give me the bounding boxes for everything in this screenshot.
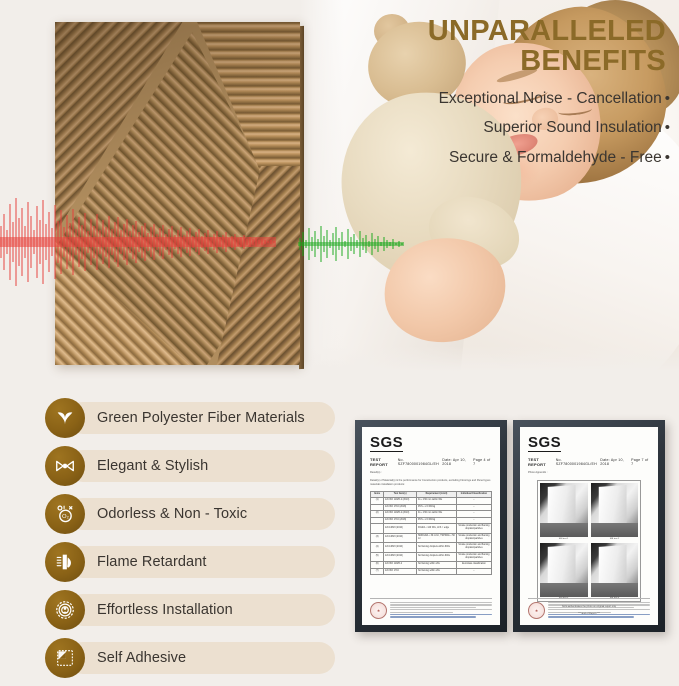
- table-cell: (5): [371, 552, 384, 562]
- feature-label: Self Adhesive: [97, 650, 186, 666]
- svg-text:O₂: O₂: [62, 514, 69, 520]
- feature-label: Odorless & Non - Toxic: [97, 506, 247, 522]
- feature-item-elegant-stylish[interactable]: Elegant & Stylish: [45, 446, 335, 486]
- report-date: Date: Apr 10, 2018: [442, 458, 473, 466]
- certificate-meta: TEST REPORT No. SZF7800001984GL/EH Date:…: [370, 457, 492, 467]
- table-cell: No flaming within 20s: [416, 568, 456, 574]
- bow-tie-icon: [45, 446, 85, 486]
- feature-label: Elegant & Stylish: [97, 458, 208, 474]
- certificate-note: Detail(s) of Material(s) & the performan…: [370, 479, 492, 487]
- report-number: No. SZF7800001984GL/EH: [556, 458, 601, 466]
- certificate-page: SGS TEST REPORT No. SZF7800001984GL/EH D…: [362, 427, 500, 625]
- table-row: (7)EN ISO 1716No flaming within 20s–: [371, 568, 492, 574]
- table-cell: No flaming droplets within 600s: [416, 543, 456, 553]
- table-cell: Smoke production and flaming droplets/pa…: [456, 552, 491, 562]
- feature-label: Effortless Installation: [97, 602, 233, 618]
- page-title: UNPARALLELED BENEFITS: [300, 16, 672, 77]
- certificate-footer: ★: [370, 598, 492, 619]
- benefit-text-2: Superior Sound Insulation: [483, 119, 661, 136]
- benefit-bullet-2: •: [662, 119, 670, 136]
- sgs-certificate-photos[interactable]: SGS TEST REPORT No. SZF7800001984GL/EH D…: [513, 420, 665, 632]
- panel-face: [55, 22, 300, 365]
- test-photo-cell: SBI test 1: [540, 483, 588, 540]
- footer-fine-print: [548, 602, 650, 619]
- table-cell: EN 13823 (2010): [384, 524, 417, 534]
- photo-bottom-fade: [300, 346, 679, 372]
- lower-section: Green Polyester Fiber Materials Elegant …: [0, 380, 679, 679]
- test-photo-grid: SBI test 1 SBI test 2 SBI test 3 SB: [537, 480, 642, 603]
- table-cell: –: [456, 568, 491, 574]
- table-cell: FIGRA ≤ 120 W/s, LFS < edge: [416, 524, 456, 534]
- feature-label: Green Polyester Fiber Materials: [97, 410, 305, 426]
- table-row: EN 13823 (2010)FIGRA ≤ 120 W/s, LFS < ed…: [371, 524, 492, 534]
- feature-item-self-adhesive[interactable]: Self Adhesive: [45, 638, 335, 678]
- sbi-test-photo: [540, 483, 588, 537]
- table-cell: [371, 524, 384, 534]
- footer-fine-print: [390, 602, 492, 619]
- benefit-text-1: Exceptional Noise - Cancellation: [439, 90, 662, 107]
- test-results-table: Items Test Item(s) Requirement (Limit) I…: [370, 491, 492, 576]
- feature-item-green-polyester[interactable]: Green Polyester Fiber Materials: [45, 398, 335, 438]
- table-cell: (3): [371, 533, 384, 543]
- sgs-logo: SGS: [370, 435, 403, 452]
- oxygen-molecule-icon: O₂: [45, 494, 85, 534]
- table-cell: Smoke production and flaming droplets/pa…: [456, 533, 491, 543]
- table-cell: Smoke production and flaming droplets/pa…: [456, 524, 491, 534]
- table-cell: Smoke production and flaming droplets/pa…: [456, 543, 491, 553]
- accreditation-seal-icon: ★: [528, 602, 545, 619]
- sbi-test-photo: [591, 483, 639, 537]
- benefit-line-1: Exceptional Noise - Cancellation•: [300, 91, 672, 107]
- accreditation-seal-icon: ★: [370, 602, 387, 619]
- feature-list: Green Polyester Fiber Materials Elegant …: [45, 398, 335, 686]
- sgs-certificates: SGS TEST REPORT No. SZF7800001984GL/EH D…: [355, 420, 670, 635]
- report-page: Page 7 of 7: [631, 458, 650, 466]
- sbi-test-photo: [540, 543, 588, 597]
- photo-caption: SBI test 1: [540, 537, 588, 540]
- feature-item-odorless-nontoxic[interactable]: O₂ Odorless & Non - Toxic: [45, 494, 335, 534]
- leaf-icon: [45, 398, 85, 438]
- benefit-text-3: Secure & Formaldehyde - Free: [449, 149, 662, 166]
- test-photo-cell: SBI test 2: [591, 483, 639, 540]
- table-cell: EN 13823 (2010): [384, 552, 417, 562]
- table-cell: (4): [371, 543, 384, 553]
- feature-label: Flame Retardant: [97, 554, 207, 570]
- report-label: TEST REPORT: [528, 457, 556, 467]
- certificate-meta: TEST REPORT No. SZF7800001984GL/EH Date:…: [528, 457, 650, 467]
- report-date: Date: Apr 10, 2018: [600, 458, 631, 466]
- loud-noise-waveform: [0, 196, 316, 288]
- table-row: (5)EN 13823 (2010)No flaming droplets wi…: [371, 552, 492, 562]
- feature-item-effortless-installation[interactable]: Effortless Installation: [45, 590, 335, 630]
- certificate-footer: ★: [528, 598, 650, 619]
- wood-acoustic-slat-panel: [55, 22, 300, 365]
- table-row: (3)EN 13823 (2010)SMOGRA ≤ 30 m²/s², TSP…: [371, 533, 492, 543]
- flame-retardant-icon: [45, 542, 85, 582]
- table-cell: EN ISO 1716: [384, 568, 417, 574]
- test-photo-cell: SBI test 4: [591, 543, 639, 600]
- report-number: No. SZF7800001984GL/EH: [398, 458, 443, 466]
- sgs-logo: SGS: [528, 435, 561, 452]
- sgs-certificate-table[interactable]: SGS TEST REPORT No. SZF7800001984GL/EH D…: [355, 420, 507, 632]
- benefit-line-2: Superior Sound Insulation•: [300, 120, 672, 136]
- table-cell: EN 13823 (2010): [384, 543, 417, 553]
- table-cell: EN 13823 (2010): [384, 533, 417, 543]
- certificate-page: SGS TEST REPORT No. SZF7800001984GL/EH D…: [520, 427, 658, 625]
- benefit-bullet-3: •: [662, 149, 670, 166]
- product-infographic-page: UNPARALLELED BENEFITS Exceptional Noise …: [0, 0, 679, 679]
- feature-item-flame-retardant[interactable]: Flame Retardant: [45, 542, 335, 582]
- test-photo-cell: SBI test 3: [540, 543, 588, 600]
- table-cell: SMOGRA ≤ 30 m²/s², TSP600s ≤ 50 m²: [416, 533, 456, 543]
- section-label: Result(s) :: [370, 471, 492, 475]
- table-cell: (7): [371, 568, 384, 574]
- installation-badge-icon: [45, 590, 85, 630]
- headline-block: UNPARALLELED BENEFITS Exceptional Noise …: [300, 16, 672, 165]
- report-page: Page 4 of 7: [473, 458, 492, 466]
- attenuated-noise-waveform: [298, 222, 408, 266]
- photo-caption: SBI test 2: [591, 537, 639, 540]
- benefit-bullet-1: •: [662, 90, 670, 107]
- adhesive-peel-corner-icon: [45, 638, 85, 678]
- table-cell: No flaming droplets within 600s: [416, 552, 456, 562]
- table-row: (4)EN 13823 (2010)No flaming droplets wi…: [371, 543, 492, 553]
- sbi-test-photo: [591, 543, 639, 597]
- report-label: TEST REPORT: [370, 457, 398, 467]
- hero-section: UNPARALLELED BENEFITS Exceptional Noise …: [0, 0, 679, 380]
- section-label: Photo Appendix :: [528, 471, 650, 475]
- benefit-line-3: Secure & Formaldehyde - Free•: [300, 150, 672, 166]
- table-body: (1)EN ISO 11925-2 (2010)Fs ≤ 150 mm with…: [371, 498, 492, 575]
